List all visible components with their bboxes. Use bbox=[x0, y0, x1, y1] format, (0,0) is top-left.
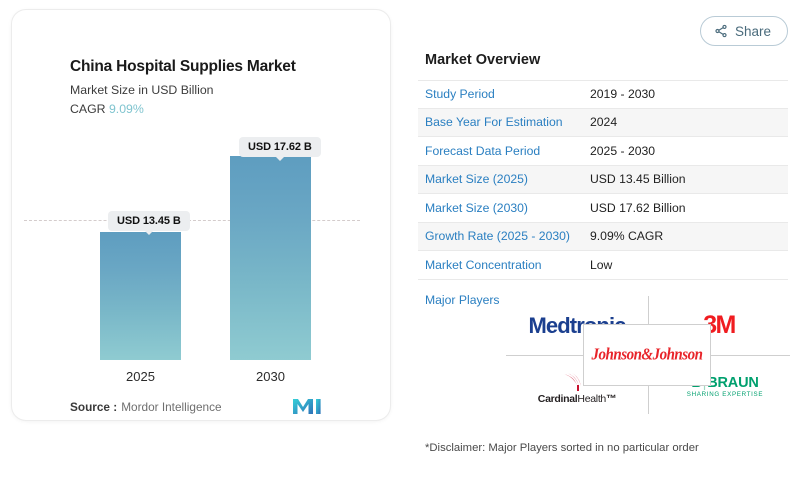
bar-chart-plot: USD 13.45 B USD 17.62 B 2025 2030 bbox=[12, 10, 390, 420]
data-label-2025: USD 13.45 B bbox=[108, 211, 190, 231]
x-axis-tick-2025: 2025 bbox=[100, 369, 181, 384]
table-row: Growth Rate (2025 - 2030) 9.09% CAGR bbox=[418, 223, 788, 252]
bar-2030[interactable] bbox=[230, 156, 311, 360]
x-axis-tick-2030: 2030 bbox=[230, 369, 311, 384]
data-label-2030: USD 17.62 B bbox=[239, 137, 321, 157]
table-row: Base Year For Estimation 2024 bbox=[418, 109, 788, 138]
market-overview-table: Study Period 2019 - 2030 Base Year For E… bbox=[418, 80, 788, 280]
source-label: Source : bbox=[70, 400, 117, 414]
row-label: Study Period bbox=[418, 87, 590, 101]
row-label: Market Size (2030) bbox=[418, 201, 590, 215]
trademark-symbol: ™ bbox=[606, 393, 616, 405]
table-row: Market Concentration Low bbox=[418, 251, 788, 280]
row-label: Market Concentration bbox=[418, 258, 590, 272]
row-value: 9.09% CAGR bbox=[590, 229, 663, 243]
source-value: Mordor Intelligence bbox=[121, 400, 221, 414]
chart-source: Source :Mordor Intelligence bbox=[70, 400, 222, 414]
logo-cell-johnson-and-johnson: Johnson&Johnson bbox=[583, 324, 711, 386]
row-value: Low bbox=[590, 258, 612, 272]
chart-card: China Hospital Supplies Market Market Si… bbox=[12, 10, 390, 420]
cardinal-health-wordmark: CardinalHealth™ bbox=[538, 393, 616, 405]
disclaimer-text: *Disclaimer: Major Players sorted in no … bbox=[425, 442, 699, 454]
table-row: Study Period 2019 - 2030 bbox=[418, 80, 788, 109]
share-button-label: Share bbox=[735, 24, 771, 39]
table-row: Market Size (2030) USD 17.62 Billion bbox=[418, 194, 788, 223]
row-value: USD 17.62 Billion bbox=[590, 201, 686, 215]
major-players-label: Major Players bbox=[425, 293, 500, 307]
row-value: 2024 bbox=[590, 115, 617, 129]
row-value: 2025 - 2030 bbox=[590, 144, 655, 158]
cardinal-word: Cardinal bbox=[538, 393, 578, 405]
row-value: USD 13.45 Billion bbox=[590, 172, 686, 186]
bar-2025[interactable] bbox=[100, 232, 181, 360]
row-label: Base Year For Estimation bbox=[418, 115, 590, 129]
share-icon bbox=[714, 24, 728, 38]
share-button[interactable]: Share bbox=[700, 16, 788, 46]
row-label: Forecast Data Period bbox=[418, 144, 590, 158]
johnson-and-johnson-logo: Johnson&Johnson bbox=[592, 345, 703, 365]
row-label: Growth Rate (2025 - 2030) bbox=[418, 229, 590, 243]
major-players-logo-grid: Medtronic 3M CardinalHealth™ B|BRAUN SHA… bbox=[506, 296, 790, 414]
table-row: Forecast Data Period 2025 - 2030 bbox=[418, 137, 788, 166]
row-label: Market Size (2025) bbox=[418, 172, 590, 186]
overview-title: Market Overview bbox=[425, 52, 540, 68]
mordor-intelligence-logo-icon bbox=[292, 398, 324, 415]
table-row: Market Size (2025) USD 13.45 Billion bbox=[418, 166, 788, 195]
row-value: 2019 - 2030 bbox=[590, 87, 655, 101]
health-word: Health bbox=[577, 393, 606, 405]
market-overview-page: China Hospital Supplies Market Market Si… bbox=[0, 0, 800, 482]
b-braun-tagline: SHARING EXPERTISE bbox=[687, 391, 763, 398]
braun-name: BRAUN bbox=[707, 375, 758, 391]
